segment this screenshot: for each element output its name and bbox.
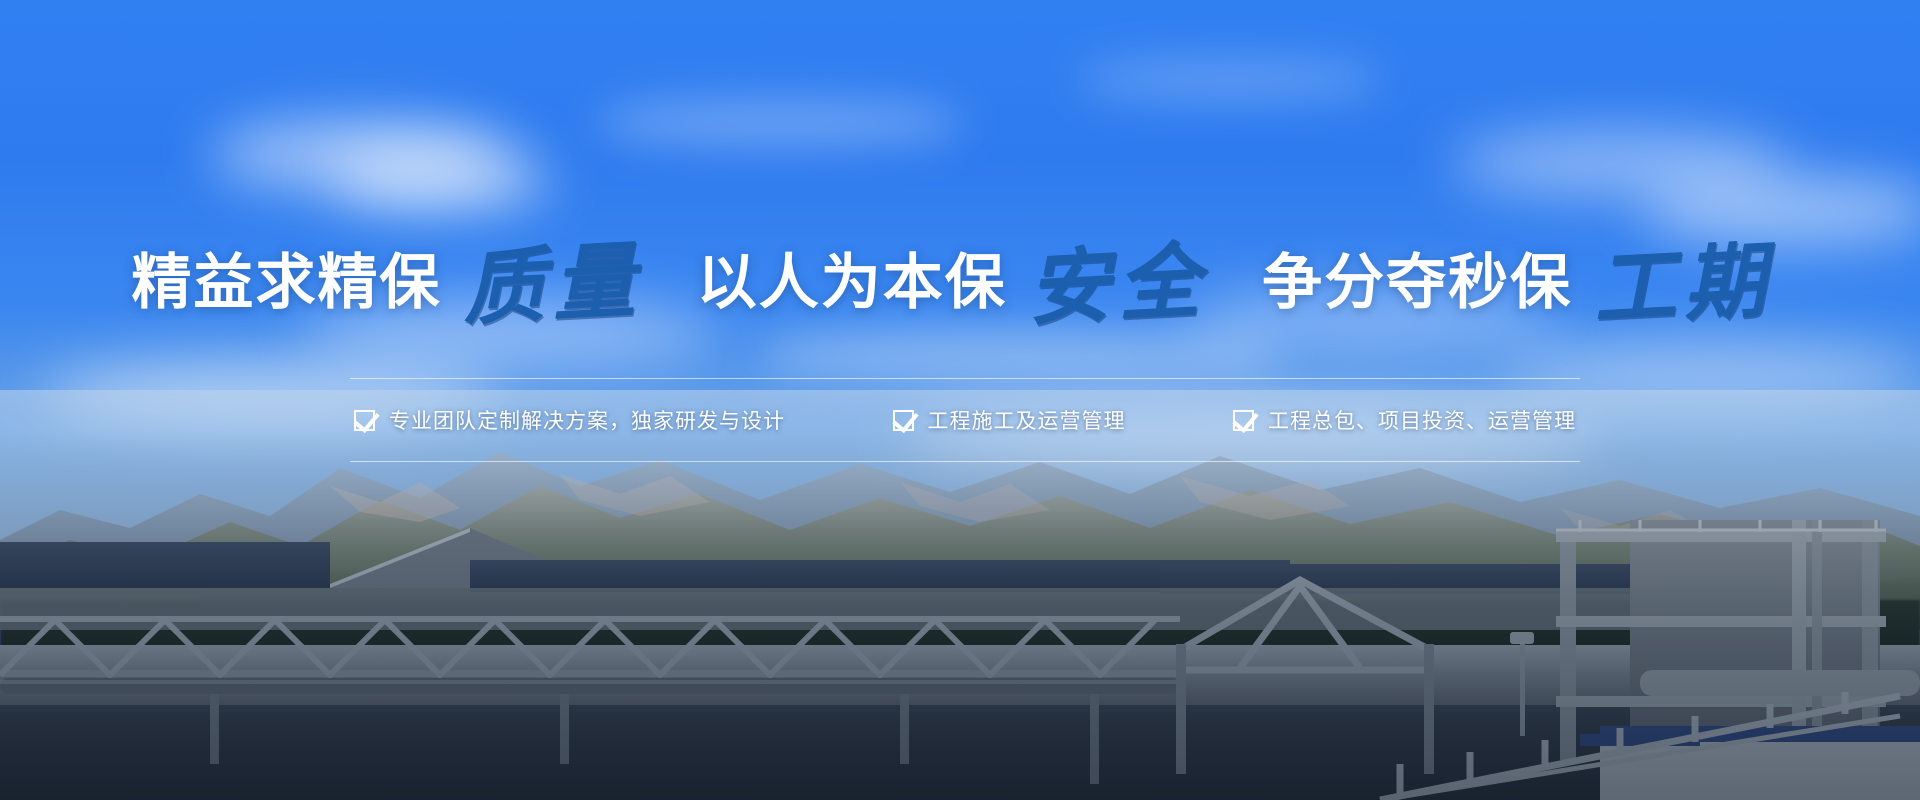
headline-segment-3: 争分夺秒保 bbox=[1262, 234, 1572, 321]
feature-item-3[interactable]: 工程总包、项目投资、运营管理 bbox=[1233, 405, 1576, 435]
feature-item-2[interactable]: 工程施工及运营管理 bbox=[893, 405, 1126, 435]
banner-content: 精益求精保 质量 以人为本保 安全 争分夺秒保 工期 专业团队定制解决方案，独家… bbox=[0, 0, 1920, 800]
headline-segment-2: 以人为本保 bbox=[697, 234, 1007, 321]
feature-label-1: 专业团队定制解决方案，独家研发与设计 bbox=[389, 405, 785, 435]
headline-segment-1: 精益求精保 bbox=[131, 234, 441, 321]
hero-banner: 精益求精保 质量 以人为本保 安全 争分夺秒保 工期 专业团队定制解决方案，独家… bbox=[0, 0, 1920, 800]
checkbox-check-icon bbox=[354, 410, 375, 431]
headline-brush-quality: 质量 bbox=[459, 213, 645, 341]
headline-brush-schedule: 工期 bbox=[1590, 213, 1776, 341]
feature-bar: 专业团队定制解决方案，独家研发与设计 工程施工及运营管理 工程总包、项目投资、运… bbox=[350, 378, 1580, 462]
headline-brush-safety: 安全 bbox=[1024, 213, 1210, 341]
feature-item-1[interactable]: 专业团队定制解决方案，独家研发与设计 bbox=[354, 405, 785, 435]
headline: 精益求精保 质量 以人为本保 安全 争分夺秒保 工期 bbox=[0, 218, 1920, 337]
checkbox-check-icon bbox=[1233, 410, 1254, 431]
feature-label-3: 工程总包、项目投资、运营管理 bbox=[1268, 405, 1576, 435]
checkbox-check-icon bbox=[893, 410, 914, 431]
feature-label-2: 工程施工及运营管理 bbox=[928, 405, 1126, 435]
